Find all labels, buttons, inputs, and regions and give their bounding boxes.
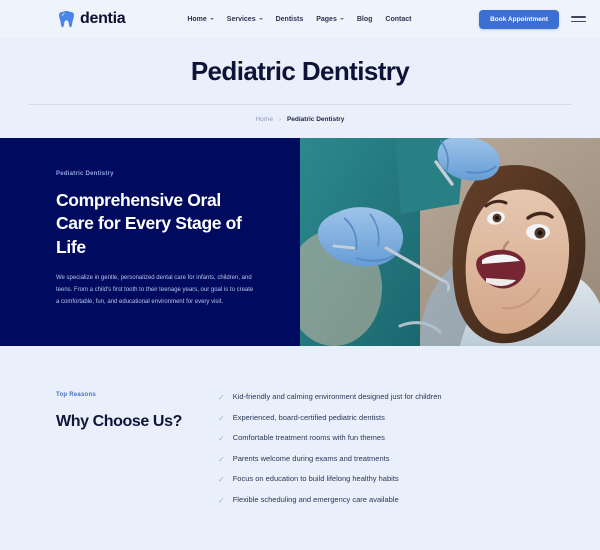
chevron-down-icon bbox=[340, 18, 344, 20]
hero-description: We specialize in gentle, personalized de… bbox=[56, 272, 256, 309]
reasons-heading-block: Top Reasons Why Choose Us? bbox=[56, 390, 218, 505]
page-root: dentia Home Services Dentists Pages Blog bbox=[0, 0, 600, 550]
chevron-down-icon bbox=[259, 18, 263, 20]
reasons-eyebrow: Top Reasons bbox=[56, 392, 218, 398]
nav-label: Contact bbox=[385, 16, 411, 23]
list-item-text: Parents welcome during exams and treatme… bbox=[233, 455, 390, 463]
nav-label: Home bbox=[187, 16, 206, 23]
nav-label: Dentists bbox=[276, 16, 304, 23]
reasons-list: ✓ Kid-friendly and calming environment d… bbox=[218, 390, 560, 505]
nav-item-pages[interactable]: Pages bbox=[316, 16, 344, 23]
list-item: ✓ Comfortable treatment rooms with fun t… bbox=[218, 434, 560, 443]
pediatric-exam-photo bbox=[300, 138, 600, 346]
check-icon: ✓ bbox=[218, 476, 225, 484]
list-item-text: Experienced, board-certified pediatric d… bbox=[233, 414, 385, 422]
check-icon: ✓ bbox=[218, 456, 225, 464]
breadcrumb-separator-icon: › bbox=[279, 117, 281, 123]
nav-item-contact[interactable]: Contact bbox=[385, 16, 411, 23]
main-nav: Home Services Dentists Pages Blog Contac… bbox=[187, 16, 411, 23]
why-choose-us-section: Top Reasons Why Choose Us? ✓ Kid-friendl… bbox=[0, 346, 600, 505]
list-item: ✓ Kid-friendly and calming environment d… bbox=[218, 393, 560, 402]
check-icon: ✓ bbox=[218, 415, 225, 423]
hero-eyebrow: Pediatric Dentistry bbox=[56, 171, 256, 177]
logo-text: dentia bbox=[80, 10, 125, 28]
nav-item-blog[interactable]: Blog bbox=[357, 16, 373, 23]
list-item: ✓ Experienced, board-certified pediatric… bbox=[218, 414, 560, 423]
page-title: Pediatric Dentistry bbox=[0, 56, 600, 87]
tooth-icon bbox=[58, 10, 75, 28]
hamburger-menu-icon[interactable] bbox=[571, 16, 586, 22]
nav-item-services[interactable]: Services bbox=[227, 16, 263, 23]
list-item-text: Flexible scheduling and emergency care a… bbox=[233, 496, 399, 504]
list-item-text: Comfortable treatment rooms with fun the… bbox=[233, 434, 385, 442]
check-icon: ✓ bbox=[218, 435, 225, 443]
site-logo[interactable]: dentia bbox=[58, 10, 125, 28]
nav-label: Pages bbox=[316, 16, 337, 23]
breadcrumb: Home › Pediatric Dentistry bbox=[0, 105, 600, 138]
nav-item-dentists[interactable]: Dentists bbox=[276, 16, 304, 23]
check-icon: ✓ bbox=[218, 497, 225, 505]
reasons-title: Why Choose Us? bbox=[56, 413, 218, 431]
page-title-band: Pediatric Dentistry Home › Pediatric Den… bbox=[0, 38, 600, 138]
list-item: ✓ Parents welcome during exams and treat… bbox=[218, 455, 560, 464]
list-item-text: Kid-friendly and calming environment des… bbox=[233, 393, 442, 401]
list-item: ✓ Flexible scheduling and emergency care… bbox=[218, 496, 560, 505]
check-icon: ✓ bbox=[218, 394, 225, 402]
nav-label: Services bbox=[227, 16, 256, 23]
list-item: ✓ Focus on education to build lifelong h… bbox=[218, 475, 560, 484]
site-header: dentia Home Services Dentists Pages Blog bbox=[0, 0, 600, 38]
breadcrumb-home-link[interactable]: Home bbox=[256, 116, 273, 123]
nav-label: Blog bbox=[357, 16, 373, 23]
nav-item-home[interactable]: Home bbox=[187, 16, 213, 23]
list-item-text: Focus on education to build lifelong hea… bbox=[233, 475, 399, 483]
hero-title: Comprehensive Oral Care for Every Stage … bbox=[56, 189, 256, 259]
hero-section: Pediatric Dentistry Comprehensive Oral C… bbox=[0, 138, 600, 346]
header-actions: Book Appointment bbox=[479, 10, 586, 29]
chevron-down-icon bbox=[210, 18, 214, 20]
hero-image bbox=[300, 138, 600, 346]
book-appointment-button[interactable]: Book Appointment bbox=[479, 10, 559, 29]
breadcrumb-current: Pediatric Dentistry bbox=[287, 116, 344, 123]
hero-copy-panel: Pediatric Dentistry Comprehensive Oral C… bbox=[0, 138, 300, 346]
